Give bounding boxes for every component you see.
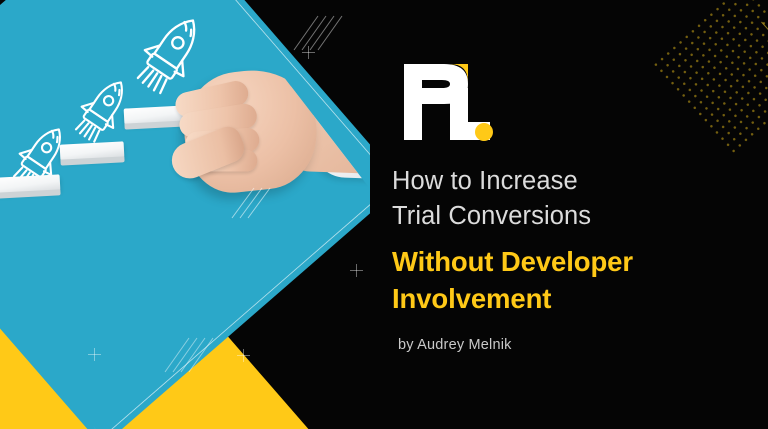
presentation-slide: PL. How to Increase Trial Conversions Wi… [0,0,768,429]
stair-block-2 [60,141,125,160]
artwork-panel [0,0,370,429]
headline-line-2: Trial Conversions [392,199,760,234]
headline-block: How to Increase Trial Conversions Withou… [392,164,760,317]
headline-line-1: How to Increase [392,164,760,199]
stair-block-1 [0,174,60,193]
brand-logo[interactable]: PL. [398,62,494,142]
headline-line-4: Involvement [392,280,760,317]
headline-line-3: Without Developer [392,243,760,280]
dot-grid-decoration [650,0,768,158]
content-pane: PL. How to Increase Trial Conversions Wi… [370,0,768,429]
author-byline: by Audrey Melnik [398,337,512,353]
